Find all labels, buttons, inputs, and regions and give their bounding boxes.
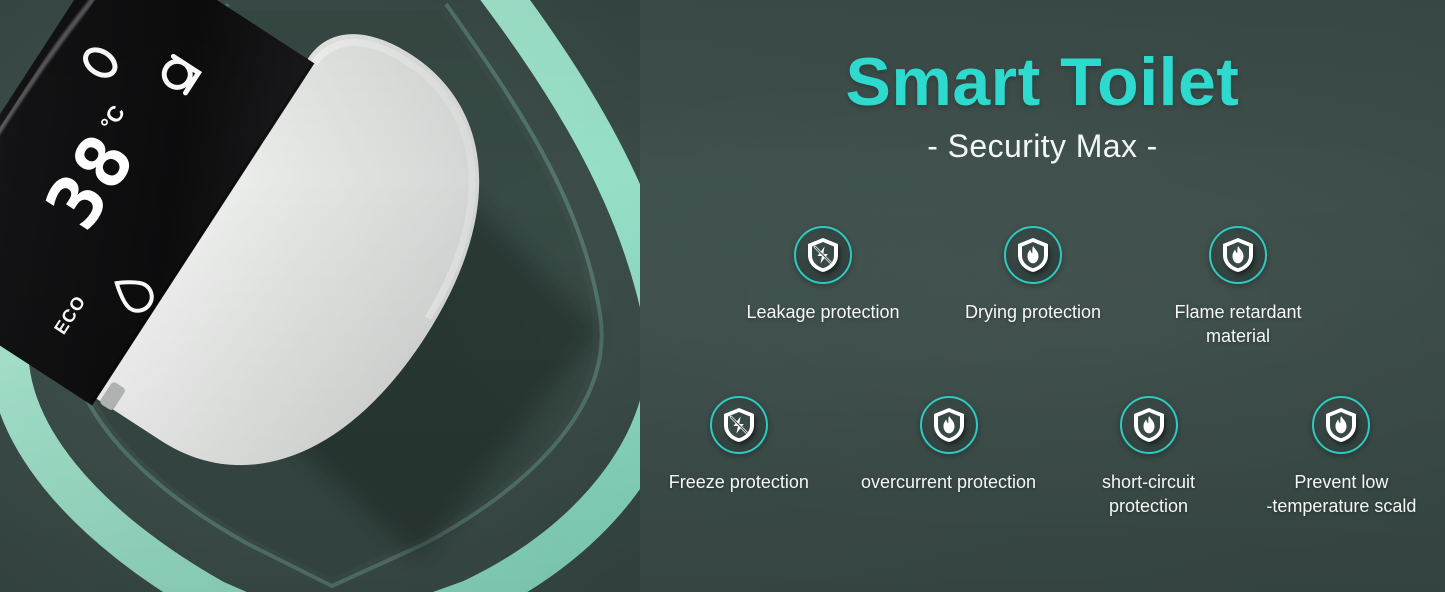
badge-flame-retardant-material[interactable] <box>1209 226 1267 284</box>
smart-toilet-banner: 38 °C ECO Smart Toilet - Security Max - <box>0 0 1445 592</box>
shield-no-electricity-icon <box>806 237 840 273</box>
shield-no-electricity-icon <box>722 407 756 443</box>
shield-flame-icon <box>1324 407 1358 443</box>
feature-short-circuit-protection[interactable]: short-circuit protection <box>1059 396 1237 519</box>
feature-label: Prevent low -temperature scald <box>1266 471 1416 519</box>
page-title: Smart Toilet <box>640 48 1445 116</box>
badge-freeze-protection[interactable] <box>710 396 768 454</box>
shield-flame-icon <box>932 407 966 443</box>
content-panel: Smart Toilet - Security Max - Leakage pr… <box>640 0 1445 592</box>
feature-label: Leakage protection <box>746 301 899 325</box>
badge-drying-protection[interactable] <box>1004 226 1062 284</box>
feature-overcurrent-protection[interactable]: overcurrent protection <box>838 396 1060 519</box>
feature-row-top: Leakage protection Drying protection <box>718 226 1438 349</box>
feature-label: short-circuit protection <box>1102 471 1195 519</box>
feature-label: overcurrent protection <box>861 471 1036 495</box>
badge-prevent-low-temperature-scald[interactable] <box>1312 396 1370 454</box>
feature-leakage-protection[interactable]: Leakage protection <box>718 226 928 349</box>
shield-flame-icon <box>1132 407 1166 443</box>
feature-row-bottom: Freeze protection overcurrent protection <box>640 396 1445 519</box>
badge-leakage-protection[interactable] <box>794 226 852 284</box>
badge-short-circuit-protection[interactable] <box>1120 396 1178 454</box>
feature-freeze-protection[interactable]: Freeze protection <box>640 396 838 519</box>
headline-block: Smart Toilet - Security Max - <box>640 48 1445 162</box>
shield-flame-icon <box>1221 237 1255 273</box>
badge-overcurrent-protection[interactable] <box>920 396 978 454</box>
feature-drying-protection[interactable]: Drying protection <box>928 226 1138 349</box>
page-subtitle: - Security Max - <box>640 130 1445 162</box>
feature-label: Drying protection <box>965 301 1101 325</box>
feature-prevent-low-temperature-scald[interactable]: Prevent low -temperature scald <box>1238 396 1445 519</box>
shield-flame-icon <box>1016 237 1050 273</box>
feature-label: Freeze protection <box>669 471 809 495</box>
feature-label: Flame retardant material <box>1174 301 1301 349</box>
feature-flame-retardant-material[interactable]: Flame retardant material <box>1138 226 1338 349</box>
